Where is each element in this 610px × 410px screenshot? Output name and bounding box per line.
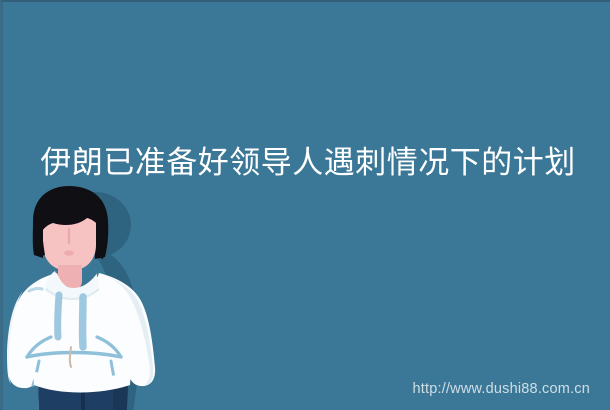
drawstring-tail	[70, 347, 71, 367]
mouth	[64, 250, 74, 255]
headline-text: 伊朗已准备好领导人遇刺情况下的计划	[3, 144, 610, 182]
illustration-person-in-white-hoodie	[3, 185, 183, 410]
drawstring-left	[58, 295, 59, 337]
watermark-url: http://www.dushi88.com.cn	[413, 380, 590, 398]
thumbnail-canvas: 伊朗已准备好领导人遇刺情况下的计划 http://www.dushi88.com…	[0, 0, 610, 410]
